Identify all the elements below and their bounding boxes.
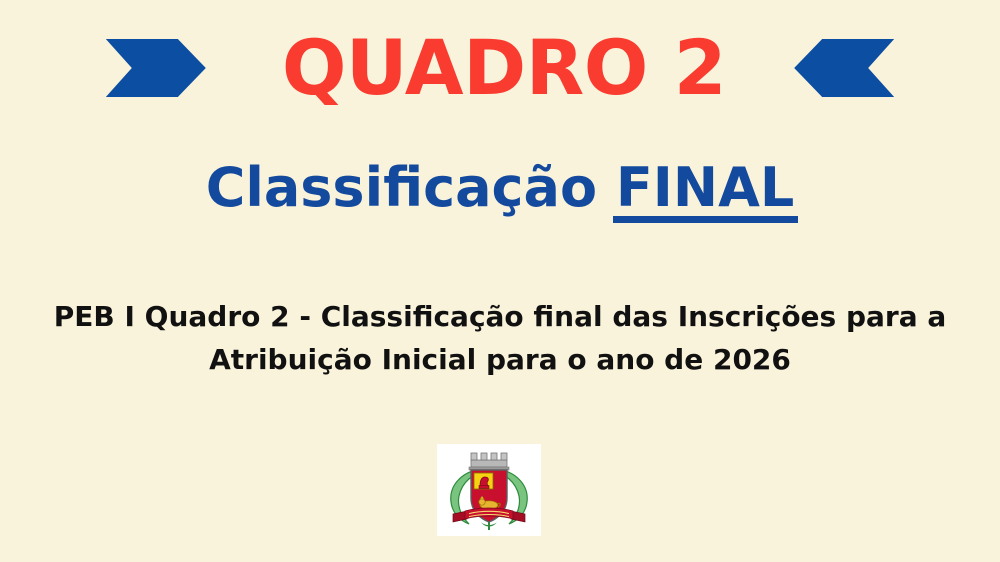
description-line-2: Atribuição Inicial para o ano de 2026: [26, 338, 974, 381]
description-line-1: PEB I Quadro 2 - Classificação final das…: [26, 295, 974, 338]
slide-canvas: QUADRO 2 Classificação FINAL PEB I Quadr…: [0, 0, 1000, 562]
coat-of-arms-emblem: [437, 444, 541, 536]
page-title: QUADRO 2: [282, 30, 726, 106]
description-block: PEB I Quadro 2 - Classificação final das…: [0, 295, 1000, 382]
chevron-left-icon: [794, 39, 894, 97]
coat-of-arms-icon: [441, 448, 537, 532]
mural-crown: [469, 453, 509, 470]
subtitle-lead: Classificação: [206, 156, 616, 219]
subtitle: Classificação FINAL: [0, 158, 1000, 217]
title-row: QUADRO 2: [0, 18, 1000, 118]
subtitle-emphasis-final: FINAL: [616, 158, 794, 217]
chevron-right-icon: [106, 39, 206, 97]
